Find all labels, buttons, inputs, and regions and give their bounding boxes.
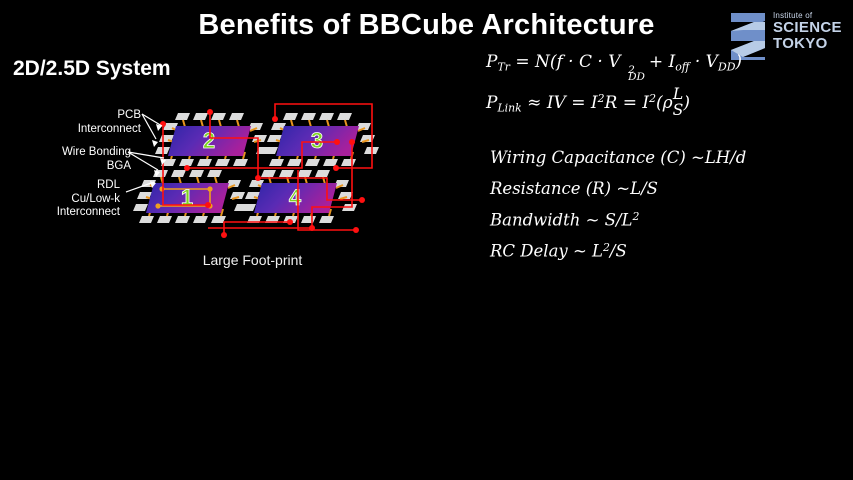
relation-3-text: RC Delay ~ L — [490, 242, 603, 261]
eq2-i2b-sup: 2 — [649, 92, 656, 105]
relation-3-tail: /S — [610, 242, 627, 261]
eq2-approx: ≈ — [527, 93, 541, 113]
relation-rc-delay: RC Delay ~ L2/S — [490, 241, 830, 260]
relation-bandwidth: Bandwidth ~ S/L2 — [490, 210, 830, 229]
eq2-open-paren: ( — [656, 93, 663, 113]
eq2-i2-sup: 2 — [598, 92, 605, 105]
eq2-fraction-l-over-s: LS — [673, 86, 684, 117]
eq2-lhs-sub: Link — [497, 102, 521, 115]
relation-2-sup: 2 — [633, 210, 640, 223]
eq1-close: ) — [735, 52, 742, 72]
eq1-mid: + I — [649, 52, 675, 72]
eq2-r: R — [605, 93, 618, 113]
eq1-equals: = — [515, 52, 529, 72]
relation-wiring-capacitance: Wiring Capacitance (C) ~LH/d — [490, 148, 830, 167]
callout-rdl-line-1: RDL — [0, 179, 120, 193]
package-diagram: 2 — [112, 82, 402, 247]
eq2-lhs: P — [486, 93, 497, 113]
eq1-tail: · V — [695, 52, 718, 72]
relation-3-sup: 2 — [603, 241, 610, 254]
diagram-caption: Large Foot-print — [140, 252, 365, 268]
scaling-relations-list: Wiring Capacitance (C) ~LH/d Resistance … — [490, 148, 830, 273]
eq1-lhs: P — [486, 52, 497, 72]
page-title: Benefits of BBCube Architecture — [0, 9, 853, 42]
eq1-lhs-sub: Tr — [497, 60, 509, 73]
chip-label-4: 4 — [289, 185, 302, 210]
chip-label-3: 3 — [311, 128, 323, 153]
relation-resistance: Resistance (R) ~L/S — [490, 179, 830, 198]
logo-line-tokyo: TOKYO — [773, 36, 845, 52]
eq2-close-paren: ) — [683, 93, 690, 113]
logo-wordmark: Institute of SCIENCE TOKYO — [773, 12, 845, 52]
eq2-equals-1: = — [571, 93, 585, 113]
callout-rdl-interconnect: RDL Cu/Low-k Interconnect — [0, 179, 120, 220]
eq2-i2: I — [591, 93, 598, 113]
chip-label-2: 2 — [203, 128, 215, 153]
eq2-rho: ρ — [663, 93, 673, 113]
relation-2-text: Bandwidth ~ S/L — [490, 210, 633, 229]
equation-p-link: PLink ≈ IV = I2R = I2(ρLS) — [486, 86, 690, 117]
eq1-rhs-prefix: N(f · C · V — [535, 52, 621, 72]
eq2-frac-den: S — [673, 102, 684, 118]
section-heading: 2D/2.5D System — [13, 57, 171, 81]
callout-rdl-line-3: Interconnect — [0, 206, 120, 220]
callout-rdl-line-2: Cu/Low-k — [0, 193, 120, 207]
eq1-vdd-sub: DD — [628, 71, 645, 83]
logo-line-science: SCIENCE — [773, 20, 845, 36]
equation-p-tr: PTr = N(f · C · V2DD + Ioff · VDD) — [486, 52, 742, 73]
institute-logo: Institute of SCIENCE TOKYO — [727, 6, 845, 64]
chip-label-1: 1 — [181, 185, 193, 210]
relation-0-text: Wiring Capacitance (C) ~LH/d — [490, 148, 746, 167]
relation-1-text: Resistance (R) ~L/S — [490, 179, 658, 198]
eq1-vdd2-sub: DD — [718, 60, 735, 73]
eq1-ioff-sub: off — [675, 60, 689, 73]
eq2-iv: IV — [547, 93, 566, 113]
slide-root: Benefits of BBCube Architecture Institut… — [0, 0, 853, 480]
eq2-equals-2: = — [623, 93, 637, 113]
